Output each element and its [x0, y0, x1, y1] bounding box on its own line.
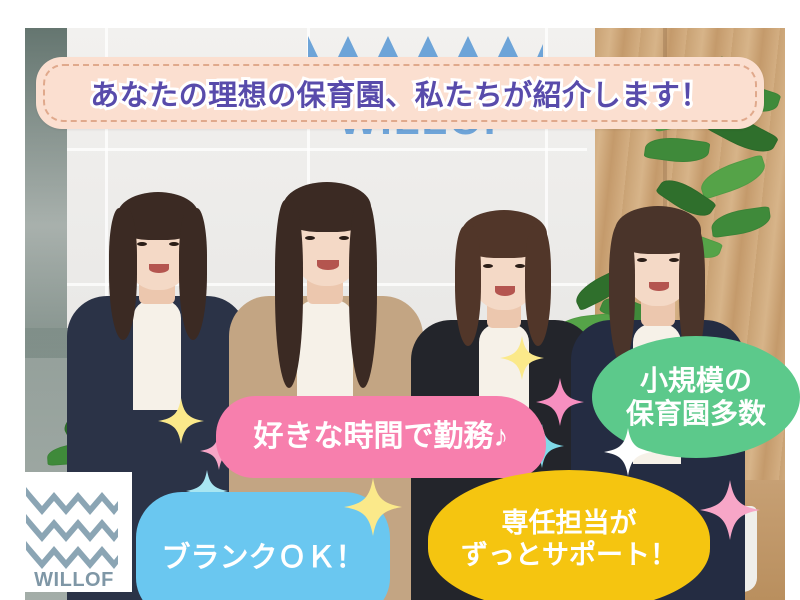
sparkle-yellow-upper-icon [500, 336, 544, 380]
person-3-hair-right [525, 226, 551, 346]
bubble-dedicated-support[interactable]: 専任担当が ずっとサポート！ [428, 470, 710, 600]
person-2-hair-left [275, 200, 303, 388]
headline-banner: あなたの理想の保育園、私たちが紹介します！ [36, 57, 764, 129]
person-1-hair-left [109, 208, 137, 340]
sparkle-yellow-mid-icon [344, 478, 402, 536]
bubble-blue-line-1: ブランクＯＫ！ [161, 541, 364, 575]
person-4-hair-left [609, 224, 635, 364]
headline-text: あなたの理想の保育園、私たちが紹介します！ [36, 57, 764, 129]
person-1-blouse [133, 300, 181, 410]
person-3-hair-left [455, 226, 481, 346]
bubble-pink-line-1: 好きな時間で勤務♪ [254, 419, 509, 454]
sparkle-pink-center-icon [536, 378, 584, 426]
advertisement-banner: WILLOF [0, 0, 800, 600]
bubble-green-line-1: 小規模の [640, 364, 752, 397]
person-1-hair-right [179, 208, 207, 340]
person-2-hair-right [349, 200, 377, 388]
willof-logo-card[interactable]: WILLOF [16, 472, 132, 592]
willof-wordmark: WILLOF [34, 569, 114, 591]
bubble-flexible-hours[interactable]: 好きな時間で勤務♪ [216, 396, 546, 478]
willof-zigzag-mark [26, 487, 118, 569]
sparkle-white-on-yellow-icon [604, 428, 652, 476]
bubble-green-line-2: 保育園多数 [626, 397, 766, 430]
sparkle-yellow-left-icon [158, 398, 204, 444]
bubble-yellow-line-1: 専任担当が [502, 508, 637, 540]
bubble-yellow-line-2: ずっとサポート！ [461, 540, 677, 572]
